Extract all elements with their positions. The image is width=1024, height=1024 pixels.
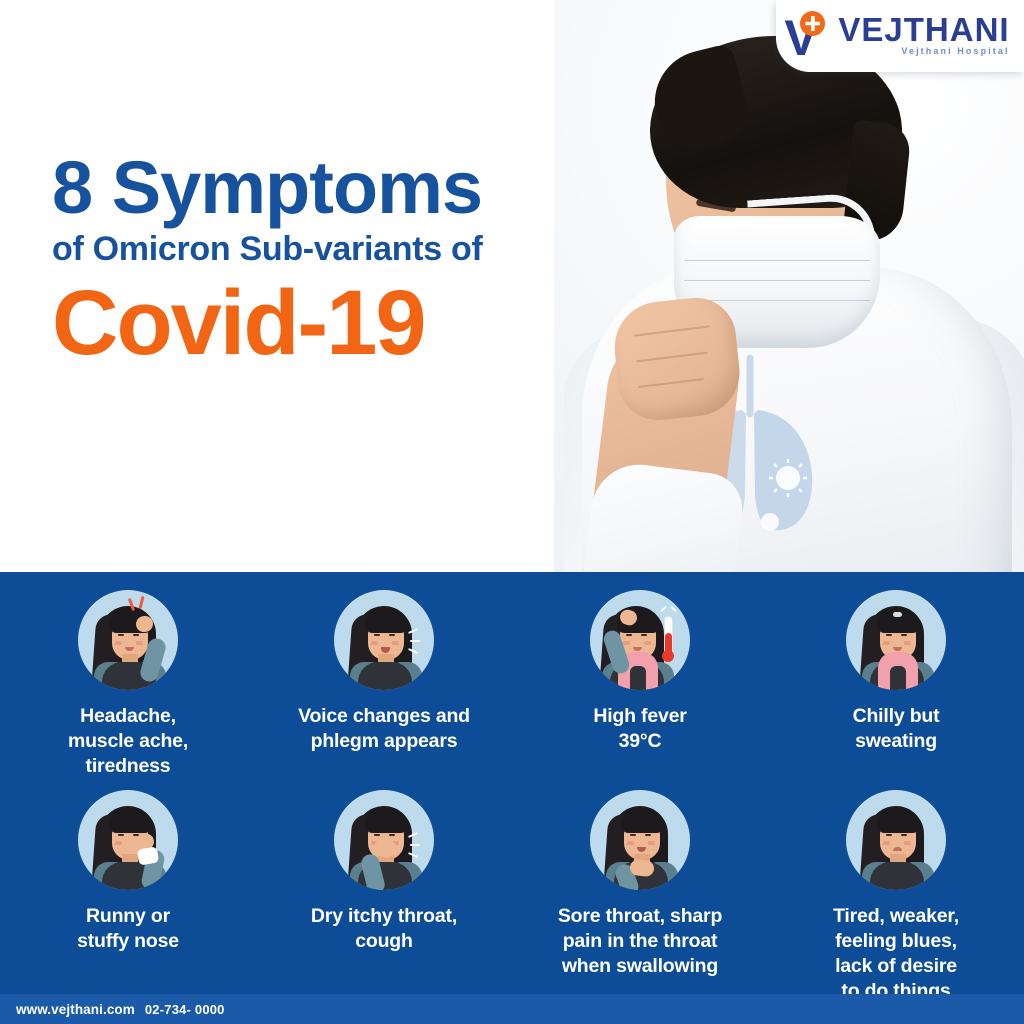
woman-chills-scarf-icon	[846, 590, 946, 690]
footer-bar: www.vejthani.com 02-734- 0000	[0, 994, 1024, 1024]
footer-website[interactable]: www.vejthani.com	[16, 1002, 135, 1017]
avatar	[78, 790, 178, 890]
symptoms-row-1: Headache, muscle ache, tiredness	[0, 590, 1024, 779]
symptom-label: High fever 39°C	[587, 704, 692, 754]
sleeve-cuff	[584, 459, 747, 572]
woman-fatigue-icon	[846, 790, 946, 890]
symptom-label: Chilly but sweating	[847, 704, 946, 754]
mask-pleat	[684, 260, 870, 261]
medical-cross-icon	[800, 11, 825, 36]
logo-name: VEJTHANI	[838, 15, 1009, 45]
symptom-label: Headache, muscle ache, tiredness	[62, 704, 194, 779]
symptom-card-tired-weaker: Tired, weaker, feeling blues, lack of de…	[768, 790, 1024, 1004]
logo-banner[interactable]: V VEJTHANI Vejthani Hospital	[776, 0, 1024, 72]
symptom-card-dry-throat-cough: Dry itchy throat, cough	[256, 790, 512, 1004]
symptom-label: Voice changes and phlegm appears	[292, 704, 476, 754]
woman-voice-change-icon	[334, 590, 434, 690]
symptom-card-high-fever: High fever 39°C	[512, 590, 768, 779]
logo-mark: V	[784, 13, 846, 59]
symptom-label: Dry itchy throat, cough	[305, 904, 463, 954]
avatar	[78, 590, 178, 690]
woman-coughing-icon	[334, 790, 434, 890]
symptom-card-chilly-sweating: Chilly but sweating	[768, 590, 1024, 779]
footer-phone[interactable]: 02-734- 0000	[145, 1002, 225, 1017]
headline-line-3: Covid-19	[52, 274, 482, 372]
avatar	[334, 790, 434, 890]
coughing-man-photo	[554, 0, 1024, 572]
infographic-poster: 8 Symptoms of Omicron Sub-variants of Co…	[0, 0, 1024, 1024]
symptom-label: Runny or stuffy nose	[71, 904, 185, 954]
avatar	[590, 790, 690, 890]
woman-sore-throat-icon	[590, 790, 690, 890]
headline-block: 8 Symptoms of Omicron Sub-variants of Co…	[52, 150, 482, 372]
symptom-label: Tired, weaker, feeling blues, lack of de…	[827, 904, 965, 1004]
symptom-card-runny-nose: Runny or stuffy nose	[0, 790, 256, 1004]
avatar	[846, 590, 946, 690]
headline-line-1: 8 Symptoms	[52, 150, 482, 226]
symptom-card-voice-changes: Voice changes and phlegm appears	[256, 590, 512, 779]
symptoms-row-2: Runny or stuffy nose	[0, 790, 1024, 1004]
avatar	[590, 590, 690, 690]
vejthani-logo: V VEJTHANI Vejthani Hospital	[784, 13, 1015, 59]
headline-line-2: of Omicron Sub-variants of	[52, 226, 482, 272]
logo-subtitle: Vejthani Hospital	[838, 46, 1009, 57]
hero-section: 8 Symptoms of Omicron Sub-variants of Co…	[0, 0, 1024, 572]
avatar	[846, 790, 946, 890]
avatar	[334, 590, 434, 690]
symptoms-section: Headache, muscle ache, tiredness	[0, 572, 1024, 994]
fist	[610, 294, 744, 424]
logo-text: VEJTHANI Vejthani Hospital	[838, 15, 1009, 59]
thermometer-bulb	[662, 650, 674, 662]
symptom-card-sore-throat: Sore throat, sharp pain in the throat wh…	[512, 790, 768, 1004]
woman-headache-icon	[78, 590, 178, 690]
mask-pleat	[684, 280, 870, 281]
woman-runny-nose-icon	[78, 790, 178, 890]
symptom-label: Sore throat, sharp pain in the throat wh…	[552, 904, 728, 979]
symptom-card-headache: Headache, muscle ache, tiredness	[0, 590, 256, 779]
woman-fever-thermometer-icon	[590, 590, 690, 690]
